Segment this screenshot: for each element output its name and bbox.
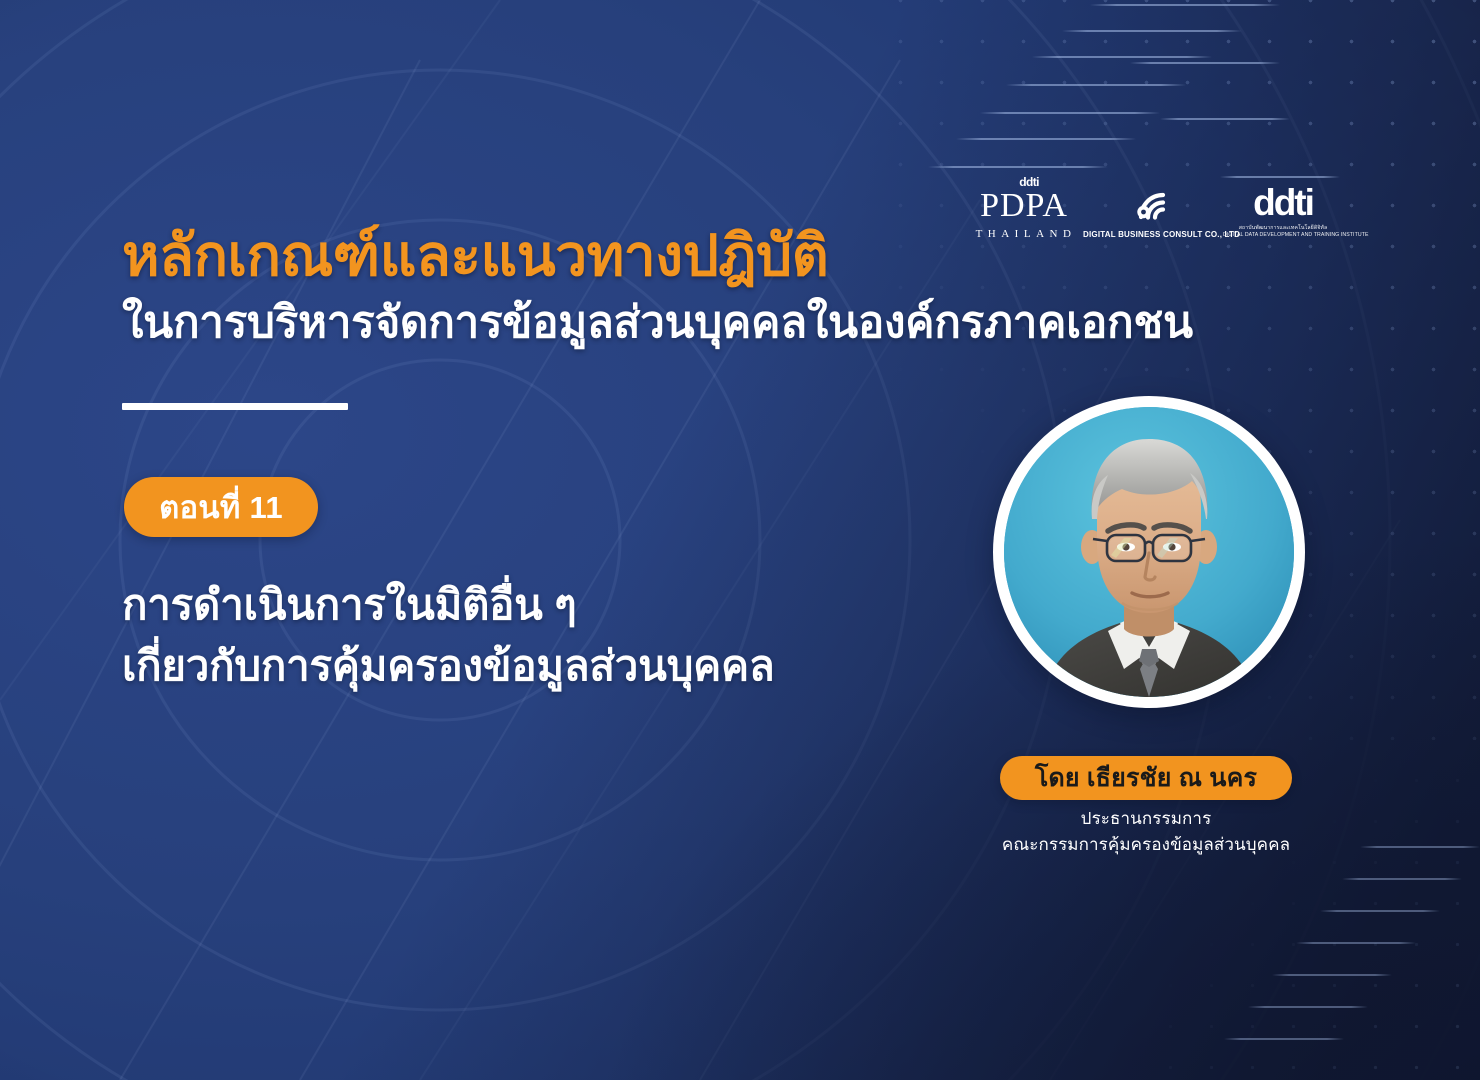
speaker-portrait-frame — [993, 396, 1305, 708]
logo-ddti-wordmark: ddti — [1223, 184, 1343, 221]
subject-line-1: การดำเนินการในมิติอื่น ๆ — [122, 578, 1002, 633]
speaker-name-badge: โดย เธียรชัย ณ นคร — [1000, 756, 1292, 800]
headline-primary: หลักเกณฑ์และแนวทางปฎิบัติ — [122, 226, 1342, 288]
speaker-role-line-1: ประธานกรรมการ — [960, 806, 1332, 832]
logo-pdpa-word-text: PDPA — [980, 187, 1068, 224]
logo-pdpa-ddti-superscript: ddti — [1019, 176, 1039, 188]
speaker-role-block: ประธานกรรมการ คณะกรรมการคุ้มครองข้อมูลส่… — [960, 806, 1332, 857]
episode-badge: ตอนที่ 11 — [124, 477, 318, 537]
wifi-signal-icon — [1083, 187, 1223, 223]
slide-canvas: ddti PDPA THAILAND DIGITAL BUSINES — [0, 0, 1480, 1080]
subject-line-2: เกี่ยวกับการคุ้มครองข้อมูลส่วนบุคคล — [122, 639, 1002, 694]
headline-divider — [122, 403, 348, 410]
headline-secondary: ในการบริหารจัดการข้อมูลส่วนบุคคลในองค์กร… — [122, 298, 1342, 349]
speaker-role-line-2: คณะกรรมการคุ้มครองข้อมูลส่วนบุคคล — [960, 832, 1332, 858]
subject-block: การดำเนินการในมิติอื่น ๆ เกี่ยวกับการคุ้… — [122, 578, 1002, 693]
logo-pdpa-wordmark: ddti PDPA — [980, 189, 1068, 223]
headline-block: หลักเกณฑ์และแนวทางปฎิบัติ ในการบริหารจัด… — [122, 226, 1342, 348]
avatar — [1004, 407, 1294, 697]
